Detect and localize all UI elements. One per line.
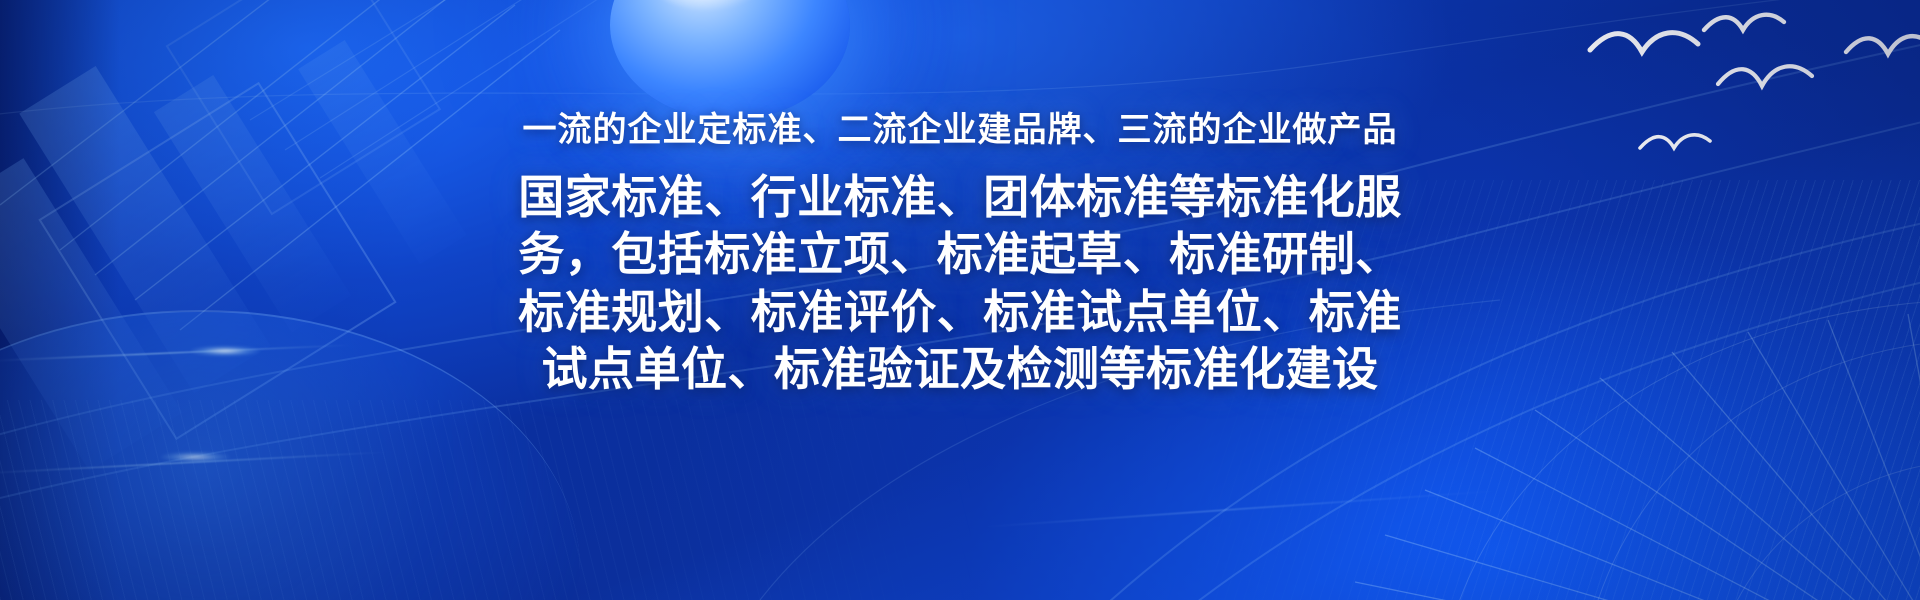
text-content: 一流的企业定标准、二流企业建品牌、三流的企业做产品 国家标准、行业标准、团体标准… [0, 0, 1920, 600]
banner-body: 国家标准、行业标准、团体标准等标准化服 务，包括标准立项、标准起草、标准研制、 … [450, 169, 1470, 399]
banner-headline: 一流的企业定标准、二流企业建品牌、三流的企业做产品 [523, 110, 1398, 151]
promotional-banner: 一流的企业定标准、二流企业建品牌、三流的企业做产品 国家标准、行业标准、团体标准… [0, 0, 1920, 600]
body-line: 国家标准、行业标准、团体标准等标准化服 [450, 169, 1470, 227]
body-line: 务，包括标准立项、标准起草、标准研制、 [450, 226, 1470, 284]
body-line: 标准规划、标准评价、标准试点单位、标准 [450, 284, 1470, 342]
body-line: 试点单位、标准验证及检测等标准化建设 [450, 341, 1470, 399]
